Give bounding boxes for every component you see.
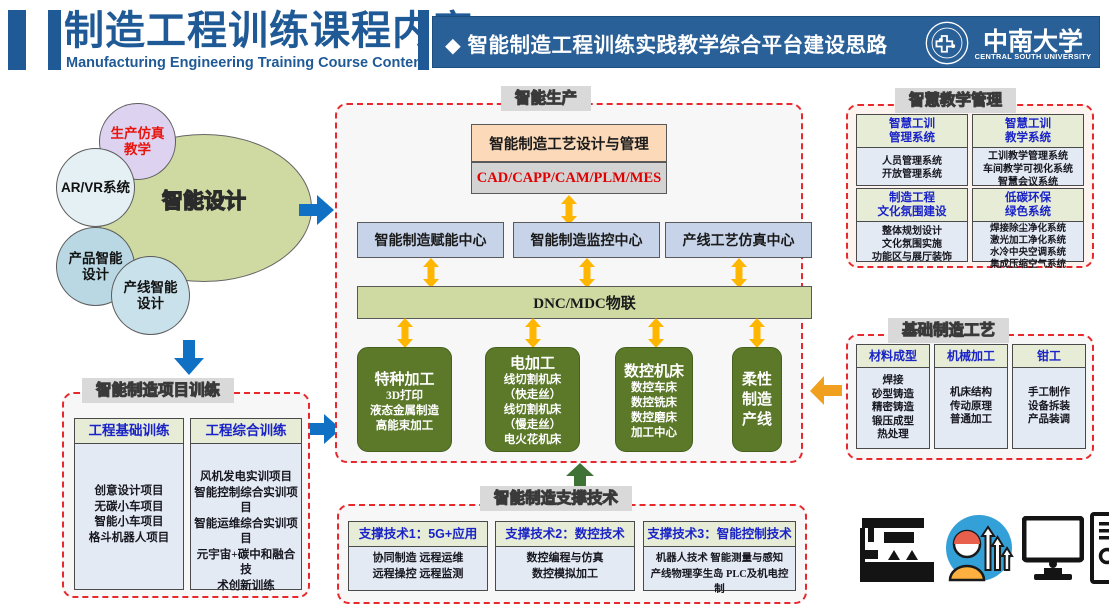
card-header: 钳工 <box>1013 345 1085 368</box>
basic-card-material-forming: 材料成型 焊接 砂型铸造 精密铸造 锻压成型 热处理 <box>856 344 930 449</box>
training-card-comprehensive: 工程综合训练 风机发电实训项目 智能控制综合实训项目 智能运维综合实训项目 元宇… <box>190 418 302 590</box>
card-header: 支撑技术1：5G+应用 <box>349 522 487 547</box>
circle-label: AR/VR系统 <box>61 180 130 196</box>
card-body: 人员管理系统 开放管理系统 <box>857 148 967 187</box>
machine-lines: 3D打印 液态金属制造 高能束加工 <box>358 389 451 434</box>
training-card-basic: 工程基础训练 创意设计项目 无碳小车项目 智能小车项目 格斗机器人项目 <box>74 418 184 590</box>
computer-tower-icon <box>1090 512 1109 584</box>
center-enabling: 智能制造赋能中心 <box>357 222 504 258</box>
header-banner: ◆ 智能制造工程训练实践教学综合平台建设思路 中南大学 CENTRAL SOUT… <box>432 16 1100 68</box>
page-header: 制造工程训练课程内容 Manufacturing Engineering Tra… <box>0 0 1109 82</box>
circle-label: 生产仿真 教学 <box>111 126 165 158</box>
blue-arrow-icon <box>299 193 335 227</box>
card-body: 协同制造 远程运维 远程操控 远程监测 <box>349 547 487 588</box>
machine-lines: 数控车床 数控铣床 数控磨床 加工中心 <box>616 381 692 441</box>
yellow-double-arrow-icon <box>522 318 544 348</box>
center-line-simulation: 产线工艺仿真中心 <box>665 222 812 258</box>
machine-title: 电加工 <box>486 348 579 373</box>
card-body: 手工制作 设备拆装 产品装调 <box>1013 368 1085 433</box>
page-title-en: Manufacturing Engineering Training Cours… <box>66 55 427 71</box>
circle-line-smart-design: 产线智能 设计 <box>111 256 190 335</box>
machine-title: 柔性 制造 产线 <box>733 348 781 430</box>
person-growth-icon <box>942 508 1016 588</box>
card-header: 智慧工训 教学系统 <box>973 115 1083 148</box>
card-body: 创意设计项目 无碳小车项目 智能小车项目 格斗机器人项目 <box>75 444 183 552</box>
machine-card-flexible-line: 柔性 制造 产线 <box>732 347 782 452</box>
circle-label: 产线智能 设计 <box>124 280 178 312</box>
header-accent-bar-2 <box>48 10 61 70</box>
machine-title: 数控机床 <box>616 348 692 381</box>
yellow-double-arrow-icon <box>394 318 416 348</box>
yellow-double-arrow-icon <box>728 258 750 288</box>
dnc-mdc-iot-box: DNC/MDC物联 <box>357 286 812 319</box>
machine-title: 特种加工 <box>358 348 451 389</box>
card-body: 整体规划设计 文化氛围实施 功能区与展厅装饰 <box>857 222 967 270</box>
yellow-double-arrow-icon <box>558 195 580 225</box>
smart-production-section-title: 智能生产 <box>501 86 591 111</box>
basic-card-fitter: 钳工 手工制作 设备拆装 产品装调 <box>1012 344 1086 449</box>
machine-card-special: 特种加工 3D打印 液态金属制造 高能束加工 <box>357 347 452 452</box>
training-section-title: 智能制造项目训练 <box>82 378 234 403</box>
card-header: 机械加工 <box>935 345 1007 368</box>
card-header: 材料成型 <box>857 345 929 368</box>
teaching-mgmt-section-title: 智慧教学管理 <box>895 88 1016 113</box>
card-body: 风机发电实训项目 智能控制综合实训项目 智能运维综合实训项目 元宇宙+碳中和融合… <box>191 444 301 600</box>
cnc-machine-icon <box>858 514 936 586</box>
yellow-double-arrow-icon <box>746 318 768 348</box>
machine-card-edm: 电加工 线切割机床 （快走丝） 线切割机床 （慢走丝） 电火花机床 <box>485 347 580 452</box>
cad-software-box: CAD/CAPP/CAM/PLM/MES <box>471 162 667 194</box>
teaching-card-green-system: 低碳环保 绿色系统 焊接除尘净化系统 激光加工净化系统 水冷中央空调系统 集成压… <box>972 188 1084 262</box>
basic-craft-section-title: 基础制造工艺 <box>888 318 1009 343</box>
circle-ar-vr-system: AR/VR系统 <box>56 148 135 227</box>
card-header: 智慧工训 管理系统 <box>857 115 967 148</box>
university-seal-icon <box>925 21 969 65</box>
basic-card-machining: 机械加工 机床结构 传动原理 普通加工 <box>934 344 1008 449</box>
header-accent-bar-1 <box>8 10 26 70</box>
monitor-icon <box>1022 516 1084 582</box>
yellow-double-arrow-icon <box>420 258 442 288</box>
card-header: 工程综合训练 <box>191 419 301 444</box>
center-monitoring: 智能制造监控中心 <box>513 222 660 258</box>
card-body: 机床结构 传动原理 普通加工 <box>935 368 1007 433</box>
header-banner-text: ◆ 智能制造工程训练实践教学综合平台建设思路 <box>445 28 887 58</box>
support-tech-section-title: 智能制造支撑技术 <box>480 486 632 511</box>
card-header: 制造工程 文化氛围建设 <box>857 189 967 222</box>
footer-icon-group <box>858 506 1103 602</box>
machine-lines: 线切割机床 （快走丝） 线切割机床 （慢走丝） 电火花机床 <box>486 373 579 448</box>
page-title-cn: 制造工程训练课程内容 <box>64 8 474 54</box>
card-body: 焊接除尘净化系统 激光加工净化系统 水冷中央空调系统 集成压缩空气系统 <box>973 222 1083 277</box>
card-body: 机器人技术 智能测量与感知 产线物理孪生岛 PLC及机电控制 <box>644 547 795 604</box>
blue-arrow-icon <box>172 340 206 376</box>
craft-design-box: 智能制造工艺设计与管理 <box>471 124 667 162</box>
card-body: 数控编程与仿真 数控模拟加工 <box>496 547 634 588</box>
machine-card-cnc: 数控机床 数控车床 数控铣床 数控磨床 加工中心 <box>615 347 693 452</box>
orange-left-arrow-icon <box>810 376 842 406</box>
support-card-5g: 支撑技术1：5G+应用 协同制造 远程运维 远程操控 远程监测 <box>348 521 488 591</box>
university-name-en: CENTRAL SOUTH UNIVERSITY <box>973 52 1093 61</box>
card-header: 低碳环保 绿色系统 <box>973 189 1083 222</box>
yellow-double-arrow-icon <box>645 318 667 348</box>
teaching-card-mgmt-system: 智慧工训 管理系统 人员管理系统 开放管理系统 <box>856 114 968 186</box>
yellow-double-arrow-icon <box>576 258 598 288</box>
card-body: 焊接 砂型铸造 精密铸造 锻压成型 热处理 <box>857 368 929 448</box>
card-header: 支撑技术2：数控技术 <box>496 522 634 547</box>
card-header: 工程基础训练 <box>75 419 183 444</box>
support-card-cnc: 支撑技术2：数控技术 数控编程与仿真 数控模拟加工 <box>495 521 635 591</box>
header-accent-bar-3 <box>418 10 429 70</box>
teaching-card-culture: 制造工程 文化氛围建设 整体规划设计 文化氛围实施 功能区与展厅装饰 <box>856 188 968 262</box>
support-card-intelligent-control: 支撑技术3：智能控制技术 机器人技术 智能测量与感知 产线物理孪生岛 PLC及机… <box>643 521 796 591</box>
card-header: 支撑技术3：智能控制技术 <box>644 522 795 547</box>
teaching-card-teaching-system: 智慧工训 教学系统 工训教学管理系统 车间教学可视化系统 智慧会议系统 <box>972 114 1084 186</box>
